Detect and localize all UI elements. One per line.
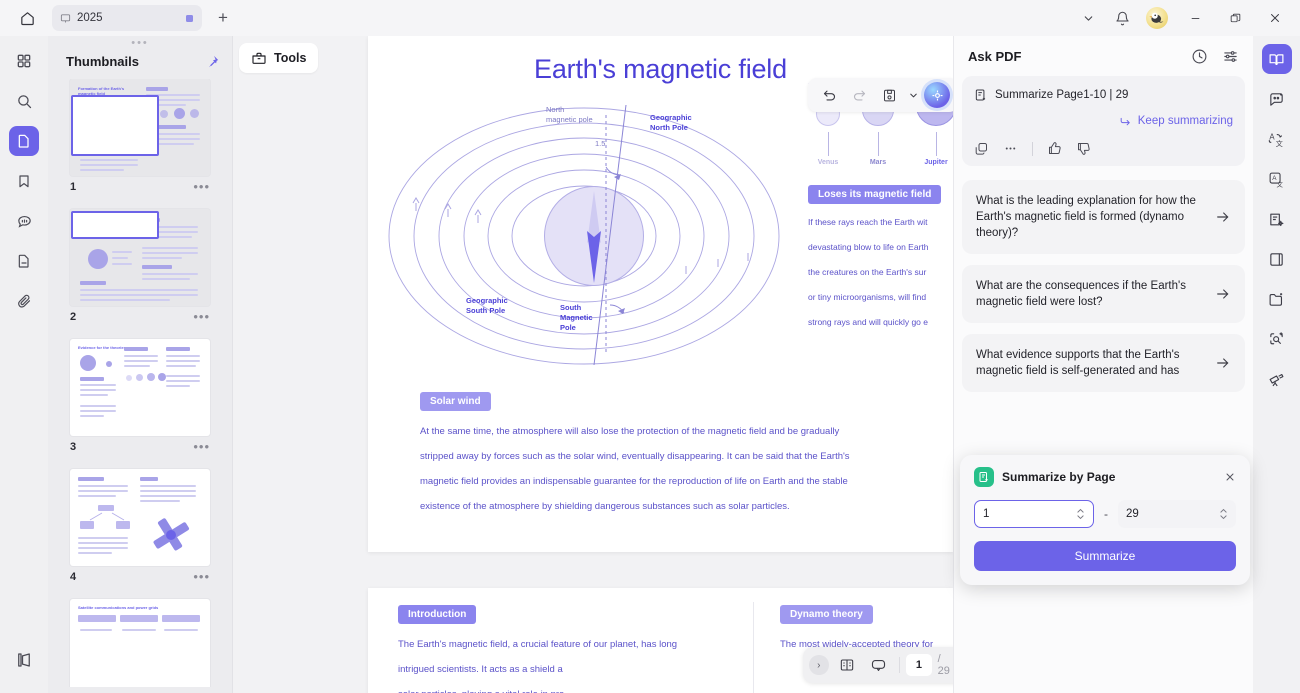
label-tilt-angle: 1.5 — [595, 139, 605, 149]
body-line: devastating blow to life on Earth — [808, 235, 953, 260]
signature-icon[interactable] — [9, 645, 39, 675]
sidebar-item-page-thumbnail[interactable] — [9, 126, 39, 156]
thumbnail-page-2[interactable]: 2 ••• — [58, 209, 222, 323]
tools-button[interactable]: Tools — [239, 43, 318, 73]
chevron-right-icon[interactable]: › — [809, 655, 829, 675]
bookmark-icon[interactable] — [9, 166, 39, 196]
save-chevron-down-icon[interactable] — [906, 82, 920, 108]
browser-tab-2025[interactable]: 2025 — [52, 5, 202, 31]
thumbnail-more-icon[interactable]: ••• — [193, 573, 210, 581]
ask-pdf-panel: Ask PDF Summarize Page1-10 | 29 — [953, 36, 1253, 693]
thumb-caption: Satellite communications and power grids — [78, 605, 198, 610]
thumbnail-canvas: Formation of the Earth's magnetic field — [70, 79, 210, 176]
pin-icon[interactable] — [205, 54, 220, 69]
panel-drag-handle[interactable]: ••• — [48, 36, 232, 48]
thumbnail-canvas — [70, 209, 210, 306]
body-line: or tiny microorganisms, will find — [808, 285, 953, 310]
thumbnail-page-1[interactable]: Formation of the Earth's magnetic field — [58, 79, 222, 193]
body-line: the creatures on the Earth's sur — [808, 260, 953, 285]
home-icon[interactable] — [12, 3, 42, 33]
body-line: intrigued scientists. It acts as a shiel… — [398, 657, 738, 682]
maximize-button[interactable] — [1216, 2, 1254, 34]
heading-dynamo-theory: Dynamo theory — [780, 605, 873, 624]
ask-pdf-header: Ask PDF — [954, 36, 1253, 76]
body-line: strong rays and will quickly go e — [808, 310, 953, 335]
body-line: The Earth's magnetic field, a crucial fe… — [398, 632, 738, 657]
chevron-down-icon[interactable] — [1072, 3, 1104, 33]
history-clock-icon[interactable] — [1191, 48, 1208, 65]
thumbnail-more-icon[interactable]: ••• — [193, 183, 210, 191]
bell-icon[interactable] — [1106, 3, 1138, 33]
to-stepper-arrows[interactable] — [1219, 508, 1228, 520]
dialog-title: Summarize by Page — [1002, 470, 1115, 484]
solar-wind-section: Solar wind At the same time, the atmosph… — [420, 391, 920, 519]
suggestion-text: What are the consequences if the Earth's… — [976, 278, 1205, 310]
to-value: 29 — [1126, 508, 1139, 520]
sliders-icon[interactable] — [1222, 48, 1239, 65]
planet-label: Jupiter — [924, 159, 947, 166]
thumbnail-number: 2 — [70, 311, 76, 323]
thumbs-down-icon[interactable] — [1076, 141, 1091, 156]
translate-document-icon[interactable]: A文 — [1262, 164, 1292, 194]
introduction-section: Introduction The Earth's magnetic field,… — [398, 604, 738, 693]
page-navigation-toolbar: › 1 / 29 125% 1 — [803, 647, 953, 683]
app-window: 2025 + — [0, 0, 1300, 693]
dialog-header: Summarize by Page — [974, 467, 1236, 487]
titlebar-right-controls — [1072, 2, 1300, 34]
thumbnail-meta: 4 ••• — [70, 571, 210, 583]
left-icon-rail — [0, 36, 48, 693]
page-layout-icon[interactable] — [833, 651, 862, 679]
monitor-icon — [60, 13, 71, 24]
arrow-curve-icon — [1119, 114, 1132, 127]
ai-summarize-icon[interactable] — [1262, 204, 1292, 234]
arrow-right-icon — [1215, 209, 1231, 225]
ask-pdf-title: Ask PDF — [968, 49, 1021, 64]
document-area: Tools Earth's magnetic field — [233, 36, 953, 693]
thumbnails-panel: ••• Thumbnails Formation of the Earth's … — [48, 36, 233, 693]
thumbnail-meta: 1 ••• — [70, 181, 210, 193]
thumbnail-meta: 2 ••• — [70, 311, 210, 323]
more-dots-icon[interactable] — [1003, 141, 1018, 156]
label-north-magnetic-pole: Northmagnetic pole — [546, 105, 593, 125]
thumbnail-number: 4 — [70, 571, 76, 583]
range-separator: - — [1104, 507, 1108, 521]
from-stepper-arrows[interactable] — [1076, 508, 1085, 520]
thumbnail-canvas — [70, 469, 210, 566]
page-right-column: particle flows. Venus Mars — [808, 78, 953, 335]
save-icon[interactable] — [876, 82, 902, 108]
summarize-submit-button[interactable]: Summarize — [974, 541, 1236, 571]
thumbnail-page-4[interactable]: 4 ••• — [58, 469, 222, 583]
thumbs-up-icon[interactable] — [1047, 141, 1062, 156]
undo-icon[interactable] — [816, 82, 842, 108]
total-pages-label: / 29 — [938, 653, 953, 677]
planet-label: Venus — [818, 159, 839, 166]
suggestion-text: What is the leading explanation for how … — [976, 193, 1205, 241]
summarize-icon — [974, 88, 988, 102]
thumbnail-list[interactable]: Formation of the Earth's magnetic field — [48, 79, 232, 687]
book-icon[interactable] — [1262, 244, 1292, 274]
thumbnail-number: 3 — [70, 441, 76, 453]
ai-read-book-icon[interactable] — [1262, 44, 1292, 74]
from-value: 1 — [983, 508, 989, 520]
body-line: existence of the atmosphere by shielding… — [420, 494, 920, 519]
summary-label: Summarize Page1-10 | 29 — [995, 89, 1128, 101]
pdf-edit-toolbar — [808, 78, 953, 112]
thumbnail-number: 1 — [70, 181, 76, 193]
label-geographic-north-pole: GeographicNorth Pole — [650, 113, 692, 133]
arrow-right-icon — [1215, 355, 1231, 371]
tools-label: Tools — [274, 51, 306, 65]
heading-introduction: Introduction — [398, 605, 476, 624]
body-line: If these rays reach the Earth wit — [808, 210, 953, 235]
ai-chat-icon[interactable] — [1262, 84, 1292, 114]
page-range-row: 1 - 29 — [974, 500, 1236, 528]
ai-orb-icon[interactable] — [924, 82, 950, 108]
page-range-from-input[interactable]: 1 — [974, 500, 1094, 528]
tab-label: 2025 — [77, 12, 103, 24]
explore-telescope-icon[interactable] — [1262, 364, 1292, 394]
redo-icon[interactable] — [846, 82, 872, 108]
comment-icon[interactable] — [864, 651, 893, 679]
copy-icon[interactable] — [974, 141, 989, 156]
svg-text:A: A — [1269, 132, 1275, 141]
suggestion-card[interactable]: What evidence supports that the Earth's … — [962, 334, 1245, 392]
suggestion-text: What evidence supports that the Earth's … — [976, 347, 1205, 379]
label-south-magnetic-pole: SouthMagneticPole — [560, 303, 593, 333]
page-range-to-input[interactable]: 29 — [1118, 500, 1236, 528]
document-minus-icon[interactable] — [9, 246, 39, 276]
thumbnail-meta: 3 ••• — [70, 441, 210, 453]
body-line: magnetic field provides an indispensable… — [420, 469, 920, 494]
comment-icon[interactable] — [9, 206, 39, 236]
heading-loses-magnetic-field: Loses its magnetic field — [808, 185, 941, 204]
summary-label-row: Summarize Page1-10 | 29 — [974, 88, 1233, 102]
svg-text:文: 文 — [1276, 138, 1283, 147]
search-icon[interactable] — [9, 86, 39, 116]
summary-result-card: Summarize Page1-10 | 29 Keep summarizing — [962, 76, 1245, 166]
apps-grid-icon[interactable] — [9, 46, 39, 76]
keep-summarizing-label: Keep summarizing — [1138, 115, 1233, 127]
label-geographic-south-pole: GeographicSouth Pole — [466, 296, 508, 316]
title-bar: 2025 + — [0, 0, 1300, 36]
thumbnail-more-icon[interactable]: ••• — [193, 313, 210, 321]
new-tab-button[interactable]: + — [210, 5, 236, 31]
planet-label: Mars — [870, 159, 886, 166]
thumbnail-page-5[interactable]: Satellite communications and power grids — [58, 599, 222, 687]
summary-actions — [974, 141, 1233, 156]
thumbnails-title: Thumbnails — [66, 54, 139, 69]
body-line: solar particles, playing a vital role in… — [398, 682, 738, 693]
tab-status-dot — [186, 15, 193, 22]
heading-solar-wind: Solar wind — [420, 392, 491, 411]
arrow-right-icon — [1215, 286, 1231, 302]
pdf-page-1: Earth's magnetic field — [368, 36, 953, 552]
attachment-paperclip-icon[interactable] — [9, 286, 39, 316]
thumbnail-canvas: Satellite communications and power grids — [70, 599, 210, 687]
current-page-input[interactable]: 1 — [906, 654, 931, 676]
ai-search-icon[interactable] — [1262, 324, 1292, 354]
summarize-page-icon — [974, 467, 994, 487]
thumbnail-canvas: Evidence for the theories — [70, 339, 210, 436]
planet-comparison: Venus Mars Jupiter — [816, 122, 953, 166]
close-button[interactable] — [1256, 2, 1294, 34]
thumbnails-header: Thumbnails — [48, 48, 232, 79]
translate-icon[interactable]: A文 — [1262, 124, 1292, 154]
summarize-by-page-dialog: Summarize by Page 1 - 29 Sum — [960, 455, 1250, 585]
ai-folder-icon[interactable] — [1262, 284, 1292, 314]
suggestion-card[interactable]: What are the consequences if the Earth's… — [962, 265, 1245, 323]
right-icon-rail: A文 A文 — [1253, 36, 1300, 693]
body-line: At the same time, the atmosphere will al… — [420, 419, 920, 444]
thumbnail-page-3[interactable]: Evidence for the theories — [58, 339, 222, 453]
avatar[interactable] — [1146, 7, 1168, 29]
toolbox-icon — [251, 50, 267, 66]
thumbnail-more-icon[interactable]: ••• — [193, 443, 210, 451]
minimize-button[interactable] — [1176, 2, 1214, 34]
close-icon[interactable] — [1224, 471, 1236, 483]
suggestion-card[interactable]: What is the leading explanation for how … — [962, 180, 1245, 254]
keep-summarizing-link[interactable]: Keep summarizing — [974, 114, 1233, 127]
body-line: stripped away by forces such as the sola… — [420, 444, 920, 469]
